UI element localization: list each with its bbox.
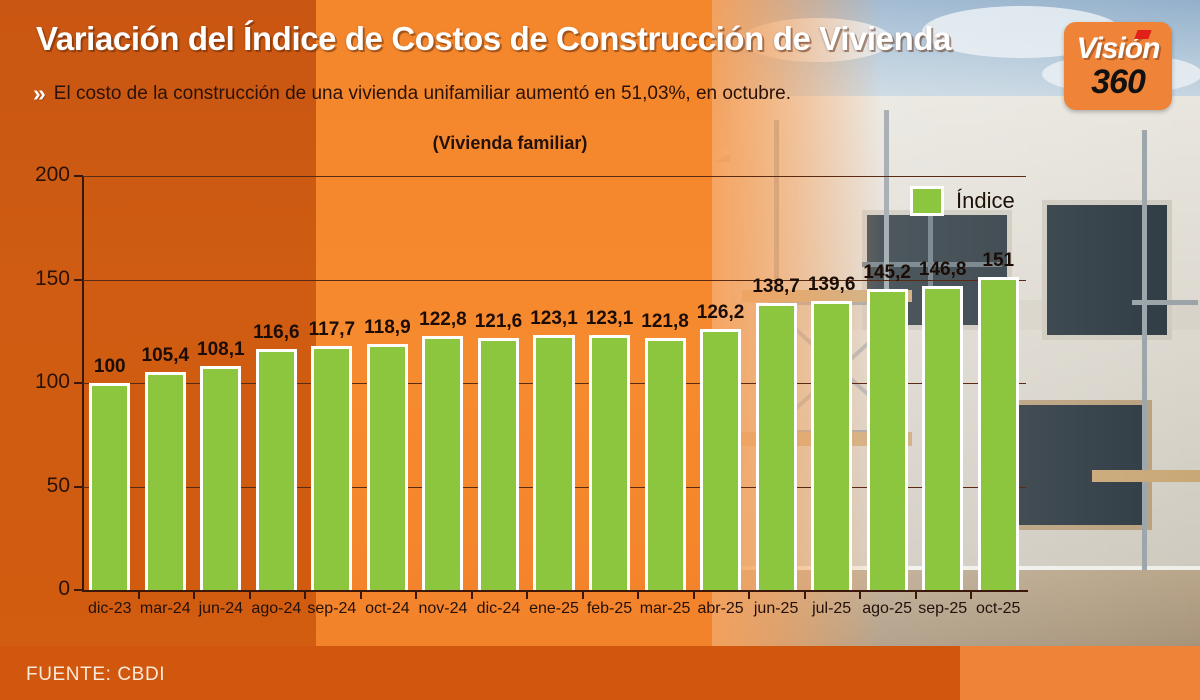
- x-tick: [471, 590, 473, 599]
- bar-value-label: 145,2: [859, 262, 915, 284]
- y-axis-tick-label: 200: [12, 163, 70, 187]
- bar[interactable]: [589, 335, 630, 590]
- bar-value-label: 146,8: [915, 259, 971, 281]
- bar[interactable]: [200, 366, 241, 590]
- bar-column[interactable]: [422, 336, 463, 590]
- bar-column[interactable]: [700, 329, 741, 590]
- bar-column[interactable]: [256, 349, 297, 590]
- bar-column[interactable]: [645, 338, 686, 590]
- bar[interactable]: [645, 338, 686, 590]
- x-tick: [415, 590, 417, 599]
- x-axis-tick-label: mar-24: [134, 600, 198, 618]
- bar[interactable]: [145, 372, 186, 590]
- x-tick: [360, 590, 362, 599]
- x-tick: [637, 590, 639, 599]
- x-tick: [693, 590, 695, 599]
- x-tick: [526, 590, 528, 599]
- bar[interactable]: [533, 335, 574, 590]
- x-axis-tick-label: oct-24: [356, 600, 420, 618]
- x-axis-tick-label: nov-24: [411, 600, 475, 618]
- bar-value-label: 121,8: [637, 311, 693, 333]
- infographic-root: Variación del Índice de Costos de Constr…: [0, 0, 1200, 700]
- y-axis-tick-label: 50: [12, 474, 70, 498]
- bar-value-label: 117,7: [304, 319, 360, 341]
- bar-value-label: 138,7: [748, 276, 804, 298]
- bar-value-label: 116,6: [249, 322, 305, 344]
- bar-value-label: 122,8: [415, 309, 471, 331]
- x-axis-tick-label: ago-24: [245, 600, 309, 618]
- bar[interactable]: [756, 303, 797, 590]
- bar-column[interactable]: [811, 301, 852, 590]
- x-tick: [193, 590, 195, 599]
- bar[interactable]: [867, 289, 908, 590]
- bar-value-label: 105,4: [138, 345, 194, 367]
- y-axis-tick-label: 100: [12, 370, 70, 394]
- bar-column[interactable]: [922, 286, 963, 590]
- bar-column[interactable]: [200, 366, 241, 590]
- bar-column[interactable]: [145, 372, 186, 590]
- source-label: FUENTE: CBDI: [26, 664, 165, 686]
- x-axis-tick-label: jul-25: [800, 600, 864, 618]
- x-axis-tick-label: ene-25: [522, 600, 586, 618]
- bar-value-label: 123,1: [582, 308, 638, 330]
- y-axis-tick-label: 150: [12, 267, 70, 291]
- bar-value-label: 118,9: [360, 317, 416, 339]
- chart-legend[interactable]: Índice: [910, 186, 1015, 216]
- bar-column[interactable]: [533, 335, 574, 590]
- x-tick: [304, 590, 306, 599]
- x-tick: [970, 590, 972, 599]
- bar-series: [82, 176, 1028, 590]
- x-axis-tick-label: oct-25: [966, 600, 1030, 618]
- bar[interactable]: [311, 346, 352, 590]
- footer: FUENTE: CBDI: [0, 646, 1200, 700]
- bar[interactable]: [700, 329, 741, 590]
- x-tick: [249, 590, 251, 599]
- chart: (Vivienda familiar) 050100150200 dic-23m…: [0, 0, 1200, 700]
- x-tick: [748, 590, 750, 599]
- bar-column[interactable]: [478, 338, 519, 590]
- bar[interactable]: [978, 277, 1019, 590]
- bar[interactable]: [256, 349, 297, 590]
- x-axis-tick-label: jun-24: [189, 600, 253, 618]
- bar[interactable]: [367, 344, 408, 590]
- bar-value-label: 123,1: [526, 308, 582, 330]
- legend-swatch-indice: [910, 186, 944, 216]
- bar-value-label: 139,6: [804, 274, 860, 296]
- x-tick: [915, 590, 917, 599]
- footer-accent-block: [960, 646, 1200, 700]
- bar-value-label: 151: [970, 250, 1026, 272]
- bar[interactable]: [922, 286, 963, 590]
- x-axis-tick-label: mar-25: [633, 600, 697, 618]
- bar-column[interactable]: [311, 346, 352, 590]
- bar[interactable]: [478, 338, 519, 590]
- bar[interactable]: [811, 301, 852, 590]
- bar-column[interactable]: [978, 277, 1019, 590]
- bar-column[interactable]: [867, 289, 908, 590]
- bar-column[interactable]: [589, 335, 630, 590]
- bar-value-label: 126,2: [693, 302, 749, 324]
- x-axis-tick-label: jun-25: [744, 600, 808, 618]
- bar-value-label: 108,1: [193, 339, 249, 361]
- x-tick: [582, 590, 584, 599]
- bar-value-label: 121,6: [471, 311, 527, 333]
- x-tick: [138, 590, 140, 599]
- legend-label-indice: Índice: [956, 188, 1015, 214]
- x-axis-tick-label: ago-25: [855, 600, 919, 618]
- bar-column[interactable]: [756, 303, 797, 590]
- x-axis-tick-label: sep-24: [300, 600, 364, 618]
- x-axis-tick-label: sep-25: [911, 600, 975, 618]
- y-axis-tick-label: 0: [12, 577, 70, 601]
- bar-column[interactable]: [89, 383, 130, 590]
- bar[interactable]: [422, 336, 463, 590]
- bar[interactable]: [89, 383, 130, 590]
- x-tick: [804, 590, 806, 599]
- bar-column[interactable]: [367, 344, 408, 590]
- x-axis-tick-label: abr-25: [689, 600, 753, 618]
- x-axis-tick-label: dic-24: [467, 600, 531, 618]
- x-axis-tick-label: dic-23: [78, 600, 142, 618]
- bar-value-label: 100: [82, 356, 138, 378]
- x-axis-tick-label: feb-25: [578, 600, 642, 618]
- x-tick: [859, 590, 861, 599]
